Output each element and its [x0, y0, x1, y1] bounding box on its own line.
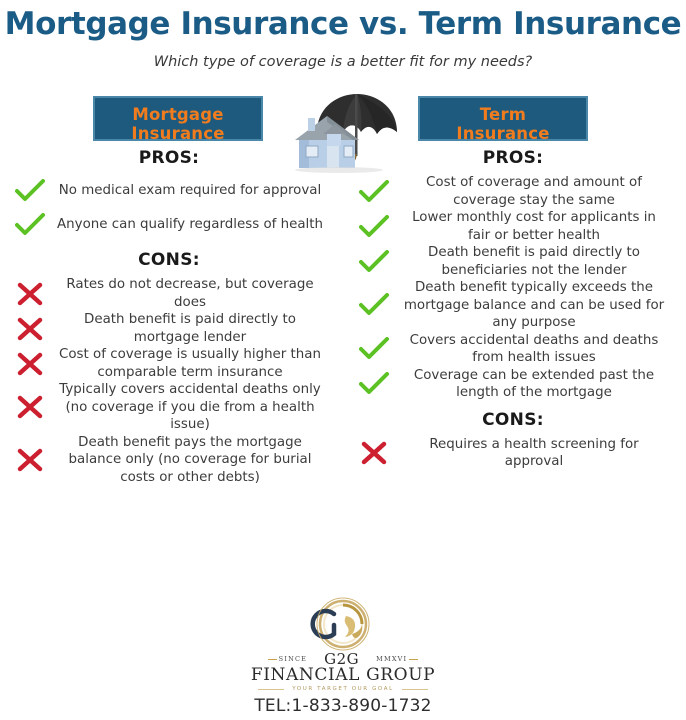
- column-mortgage-insurance: PROS:No medical exam required for approv…: [4, 148, 334, 486]
- pro-item: Death benefit is paid directly to benefi…: [348, 244, 678, 279]
- pro-item: Anyone can qualify regardless of health: [4, 208, 334, 242]
- item-text: Coverage can be extended past the length…: [400, 367, 678, 402]
- pro-item: No medical exam required for approval: [4, 174, 334, 208]
- check-icon: [348, 337, 400, 361]
- pro-item: Coverage can be extended past the length…: [348, 367, 678, 402]
- check-icon: [348, 180, 400, 204]
- cross-icon: [4, 352, 56, 376]
- company-logo: SINCE G2G MMXVI FINANCIAL GROUP YOUR TAR…: [0, 596, 686, 692]
- page-subtitle: Which type of coverage is a better fit f…: [0, 54, 686, 70]
- g2g-emblem-icon: [306, 596, 380, 652]
- check-icon: [348, 215, 400, 239]
- logo-company-name: FINANCIAL GROUP: [0, 665, 686, 685]
- con-item: Rates do not decrease, but coverage does: [4, 276, 334, 311]
- column-header-line1: Term: [420, 105, 586, 124]
- column-header-mortgage-insurance: Mortgage Insurance: [93, 96, 263, 141]
- cross-icon: [4, 448, 56, 472]
- section-label-cons: CONS:: [348, 410, 678, 430]
- pro-item: Death benefit typically exceeds the mort…: [348, 279, 678, 332]
- item-text: No medical exam required for approval: [56, 182, 334, 200]
- column-term-insurance: PROS:Cost of coverage and amount of cove…: [348, 148, 678, 471]
- check-icon: [348, 293, 400, 317]
- con-item: Requires a health screening for approval: [348, 436, 678, 471]
- check-icon: [4, 213, 56, 237]
- item-text: Rates do not decrease, but coverage does: [56, 276, 334, 311]
- con-item: Death benefit pays the mortgage balance …: [4, 434, 334, 487]
- column-header-term-insurance: Term Insurance: [418, 96, 588, 141]
- pro-item: Covers accidental deaths and deaths from…: [348, 332, 678, 367]
- pro-item: Lower monthly cost for applicants in fai…: [348, 209, 678, 244]
- item-text: Death benefit pays the mortgage balance …: [56, 434, 334, 487]
- column-header-line2: Insurance: [95, 124, 261, 143]
- check-icon: [348, 250, 400, 274]
- item-text: Cost of coverage and amount of coverage …: [400, 174, 678, 209]
- con-item: Typically covers accidental deaths only …: [4, 381, 334, 434]
- column-header-line2: Insurance: [420, 124, 586, 143]
- column-header-line1: Mortgage: [95, 105, 261, 124]
- item-text: Anyone can qualify regardless of health: [56, 216, 334, 234]
- item-text: Requires a health screening for approval: [400, 436, 678, 471]
- cross-icon: [4, 395, 56, 419]
- item-text: Lower monthly cost for applicants in fai…: [400, 209, 678, 244]
- item-text: Death benefit typically exceeds the mort…: [400, 279, 678, 332]
- cross-icon: [4, 282, 56, 306]
- section-label-pros: PROS:: [4, 148, 334, 168]
- page-title: Mortgage Insurance vs. Term Insurance: [0, 6, 686, 42]
- item-text: Cost of coverage is usually higher than …: [56, 346, 334, 381]
- logo-tagline: YOUR TARGET OUR GOAL: [0, 686, 686, 692]
- check-icon: [4, 179, 56, 203]
- logo-since-label: SINCE: [268, 655, 318, 663]
- con-item: Death benefit is paid directly to mortga…: [4, 311, 334, 346]
- item-text: Typically covers accidental deaths only …: [56, 381, 334, 434]
- cross-icon: [348, 441, 400, 465]
- pro-item: Cost of coverage and amount of coverage …: [348, 174, 678, 209]
- cross-icon: [4, 317, 56, 341]
- section-label-cons: CONS:: [4, 250, 334, 270]
- con-item: Cost of coverage is usually higher than …: [4, 346, 334, 381]
- section-label-pros: PROS:: [348, 148, 678, 168]
- item-text: Death benefit is paid directly to mortga…: [56, 311, 334, 346]
- contact-phone: TEL:1-833-890-1732: [0, 696, 686, 716]
- check-icon: [348, 372, 400, 396]
- item-text: Death benefit is paid directly to benefi…: [400, 244, 678, 279]
- logo-mmxvi-label: MMXVI: [365, 655, 418, 663]
- item-text: Covers accidental deaths and deaths from…: [400, 332, 678, 367]
